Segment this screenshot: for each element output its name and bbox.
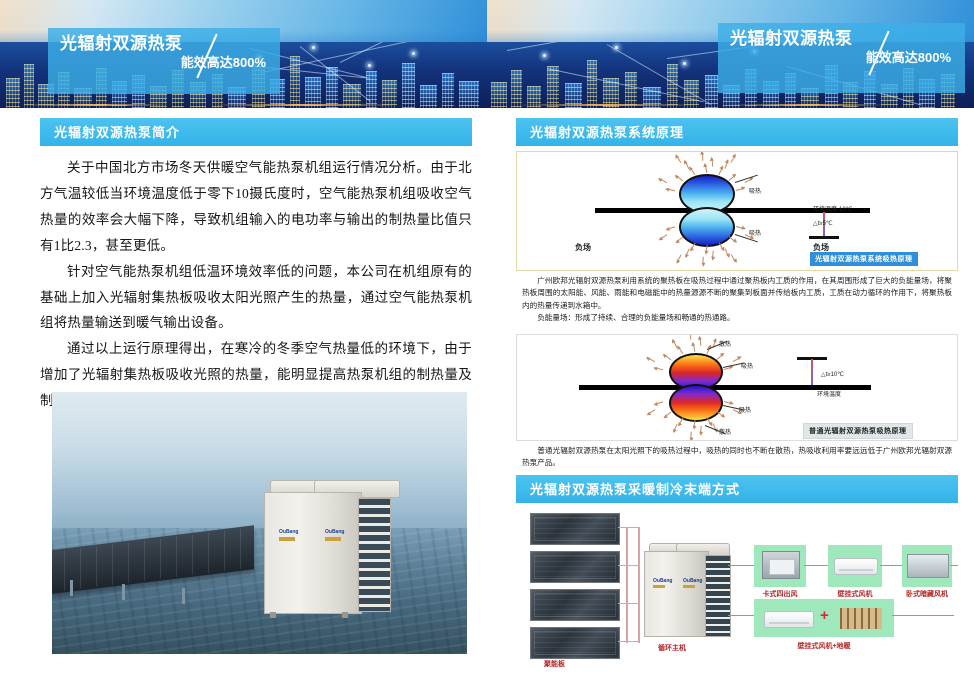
- main-unit-grill: [705, 555, 731, 637]
- brand-logo-1: OuBang: [279, 529, 298, 535]
- intro-body-text: 关于中国北方市场冬天供暖空气能热泵机组运行情况分析。由于北方气温较低当环境温度低…: [40, 155, 472, 414]
- section-header-principle: 光辐射双源热泵系统原理: [516, 118, 958, 146]
- terminal-card-2: [828, 545, 882, 587]
- diagram-two-label-radiate-bottom: 散热: [719, 427, 731, 436]
- diagram-one-label-field-left: 负场: [575, 242, 591, 253]
- terminal-card-3: [902, 545, 952, 587]
- left-banner-title: 光辐射双源热泵 能效高达800%: [48, 28, 280, 94]
- diagram-two-label-absorb-lower: 吸热: [739, 405, 751, 414]
- left-banner: 光辐射双源热泵 能效高达800%: [0, 0, 487, 108]
- collector-panel-2: [530, 551, 620, 583]
- diagram-two-note: 普通光辐射双源热泵在太阳光照下的吸热过程中，吸热的同时也不断在散热，热吸收利用率…: [516, 441, 958, 475]
- cassette-unit-icon: [762, 551, 800, 579]
- wall-mounted-fan-icon: [834, 558, 878, 575]
- photo-sky: [52, 392, 467, 528]
- intro-paragraph-2: 针对空气能热泵机组低温环境效率低的问题，本公司在机组原有的基础上加入光辐射集热板…: [40, 259, 472, 337]
- collector-label: 聚能板: [544, 659, 565, 669]
- terminal-label-4: 壁挂式风机+地暖: [754, 641, 894, 651]
- right-column: 光辐射双源热泵系统原理: [516, 118, 958, 675]
- diagram-two-canvas: 散热 吸热 吸热 散热 △t≥10℃ 环境温度 普通光辐射双源热泵吸热原理: [517, 335, 957, 440]
- diagram-one-label-absorb-bottom: 吸热: [749, 228, 761, 237]
- right-banner-title: 光辐射双源热泵 能效高达800%: [718, 23, 965, 93]
- terminal-card-1: [754, 545, 806, 587]
- left-column: 光辐射双源热泵简介 关于中国北方市场冬天供暖空气能热泵机组运行情况分析。由于北方…: [40, 118, 472, 414]
- diagram-two-box: 散热 吸热 吸热 散热 △t≥10℃ 环境温度 普通光辐射双源热泵吸热原理: [516, 334, 958, 441]
- unit-cabinet: OuBang OuBang: [264, 492, 362, 614]
- diagram-one-canvas: 吸热 吸热 负场 负场 环境温度-10℃ △t≥5℃ 光辐射双源热泵系统吸热原理: [517, 152, 957, 270]
- collector-panel-1: [530, 513, 620, 545]
- diagram-two-label-delta-t: △t≥10℃: [821, 371, 844, 378]
- main-heat-pump-unit: OuBang OuBang: [644, 543, 729, 635]
- diagram-one-label-ambient-temp: 环境温度-10℃: [813, 204, 852, 213]
- section-header-intro: 光辐射双源热泵简介: [40, 118, 472, 146]
- intro-paragraph-1: 关于中国北方市场冬天供暖空气能热泵机组运行情况分析。由于北方气温较低当环境温度低…: [40, 155, 472, 259]
- right-banner-title-line1: 光辐射双源热泵: [730, 29, 955, 49]
- floor-heating-icon: [840, 608, 882, 629]
- system-diagram: 聚能板 OuBang OuBang 循环主机: [516, 507, 958, 675]
- diagram-one-note-paragraph-2: 负能量场：形成了持续、合理的负能量场和畅通的热通路。: [522, 312, 952, 324]
- diagram-one-note: 广州欧邦光辐射双源热泵利用系统的聚热板在吸热过程中通过聚热板内工质的作用，在其周…: [516, 271, 958, 329]
- main-unit-label: 循环主机: [658, 643, 686, 653]
- diagram-one-label-delta-t: △t≥5℃: [813, 220, 833, 227]
- terminal-label-2: 壁挂式风机: [828, 589, 882, 599]
- brochure-page: 光辐射双源热泵 能效高达800%: [0, 0, 974, 693]
- collector-panel-4: [530, 627, 620, 659]
- product-photo: OuBang OuBang: [52, 392, 467, 654]
- main-unit-brand-1: OuBang: [653, 578, 672, 584]
- unit-condenser-grill: [358, 498, 391, 612]
- diagram-two-caption-badge: 普通光辐射双源热泵吸热原理: [803, 423, 913, 439]
- diagram-two-note-paragraph-1: 普通光辐射双源热泵在太阳光照下的吸热过程中，吸热的同时也不断在散热，热吸收利用率…: [522, 445, 952, 470]
- right-banner-title-line2: 能效高达800%: [730, 51, 955, 66]
- main-unit-cabinet: OuBang OuBang: [644, 551, 709, 637]
- collector-panel-3: [530, 589, 620, 621]
- main-unit-brand-2: OuBang: [683, 578, 702, 584]
- heat-pump-unit: OuBang OuBang: [264, 480, 389, 612]
- left-banner-title-line2: 能效高达800%: [60, 56, 270, 71]
- terminal-label-1: 卡式四出风: [754, 589, 806, 599]
- brand-logo-2: OuBang: [325, 529, 344, 535]
- diagram-two-label-absorb-upper: 吸热: [741, 361, 753, 370]
- diagram-one-note-paragraph-1: 广州欧邦光辐射双源热泵利用系统的聚热板在吸热过程中通过聚热板内工质的作用，在其周…: [522, 275, 952, 312]
- diagram-two-label-radiate-top: 散热: [719, 339, 731, 348]
- terminal-card-4: +: [754, 599, 894, 637]
- left-banner-title-line1: 光辐射双源热泵: [60, 34, 270, 54]
- banner-row: 光辐射双源热泵 能效高达800%: [0, 0, 974, 108]
- terminal-label-3: 卧式暗藏风机: [898, 589, 956, 599]
- right-banner: 光辐射双源热泵 能效高达800%: [487, 0, 974, 108]
- diagram-one-label-absorb-top: 吸热: [749, 186, 761, 195]
- diagram-one-caption-badge: 光辐射双源热泵系统吸热原理: [810, 252, 918, 266]
- diagram-one-box: 吸热 吸热 负场 负场 环境温度-10℃ △t≥5℃ 光辐射双源热泵系统吸热原理: [516, 151, 958, 271]
- ducted-fan-icon: [907, 554, 949, 578]
- plus-sign: +: [820, 607, 829, 624]
- section-header-terminal: 光辐射双源热泵采暖制冷末端方式: [516, 475, 958, 503]
- diagram-two-label-ambient-temp: 环境温度: [817, 389, 841, 398]
- wall-fan-icon-2: [764, 611, 814, 628]
